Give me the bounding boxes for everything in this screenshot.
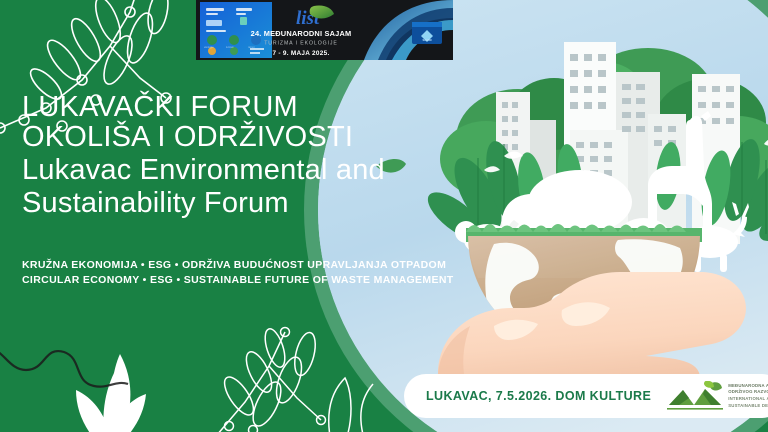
academy-english-line-2: SUSTAINABLE DEVELOPMENT — [728, 403, 768, 409]
banner-title: 24. MEĐUNARODNI SAJAM — [251, 29, 352, 38]
venue-bar: LUKAVAC, 7.5.2026. DOM KULTURE MEĐUNAROD… — [404, 374, 768, 418]
fair-banner[interactable]: ekologija turizam razvoj SAJAM list — [196, 0, 453, 60]
academy-local-line-2: ODRŽIVOG RAZVOJA — [728, 389, 768, 395]
headline-english-line-2: Sustainability Forum — [22, 188, 452, 218]
poster-canvas: ekologija turizam razvoj SAJAM list — [0, 0, 768, 432]
svg-text:SAJAM: SAJAM — [422, 38, 431, 42]
banner-dates: 7 - 9. MAJA 2025. — [272, 50, 329, 57]
decorative-leaves-bottom-left — [0, 300, 286, 432]
headline-croatian-line-1: LUKAVAČKI FORUM — [22, 92, 452, 122]
svg-text:razvoj: razvoj — [248, 46, 255, 49]
svg-text:ekologija: ekologija — [204, 46, 214, 49]
mountain-leaf-icon — [667, 381, 723, 411]
headline-english-line-1: Lukavac Environmental and — [22, 155, 452, 185]
subtitle-english: CIRCULAR ECONOMY • ESG • SUSTAINABLE FUT… — [22, 273, 452, 288]
academy-english-line-1: INTERNATIONAL ACADEMY OF — [728, 396, 768, 402]
academy-logo[interactable]: MEĐUNARODNA AKADEMIJA ODRŽIVOG RAZVOJA I… — [667, 381, 768, 411]
svg-text:turizam: turizam — [226, 46, 234, 49]
headline-block: LUKAVAČKI FORUM OKOLIŠA I ODRŽIVOSTI Luk… — [22, 92, 452, 218]
banner-subtitle: TURIZMA I EKOLOGIJE — [264, 41, 338, 47]
headline-croatian-line-2: OKOLIŠA I ODRŽIVOSTI — [22, 122, 452, 152]
academy-local-line-1: MEĐUNARODNA AKADEMIJA — [728, 383, 768, 389]
subtitle-croatian: KRUŽNA EKONOMIJA • ESG • ODRŽIVA BUDUĆNO… — [22, 258, 452, 273]
subtitle-block: KRUŽNA EKONOMIJA • ESG • ODRŽIVA BUDUĆNO… — [22, 258, 452, 288]
venue-text: LUKAVAC, 7.5.2026. DOM KULTURE — [426, 389, 651, 403]
